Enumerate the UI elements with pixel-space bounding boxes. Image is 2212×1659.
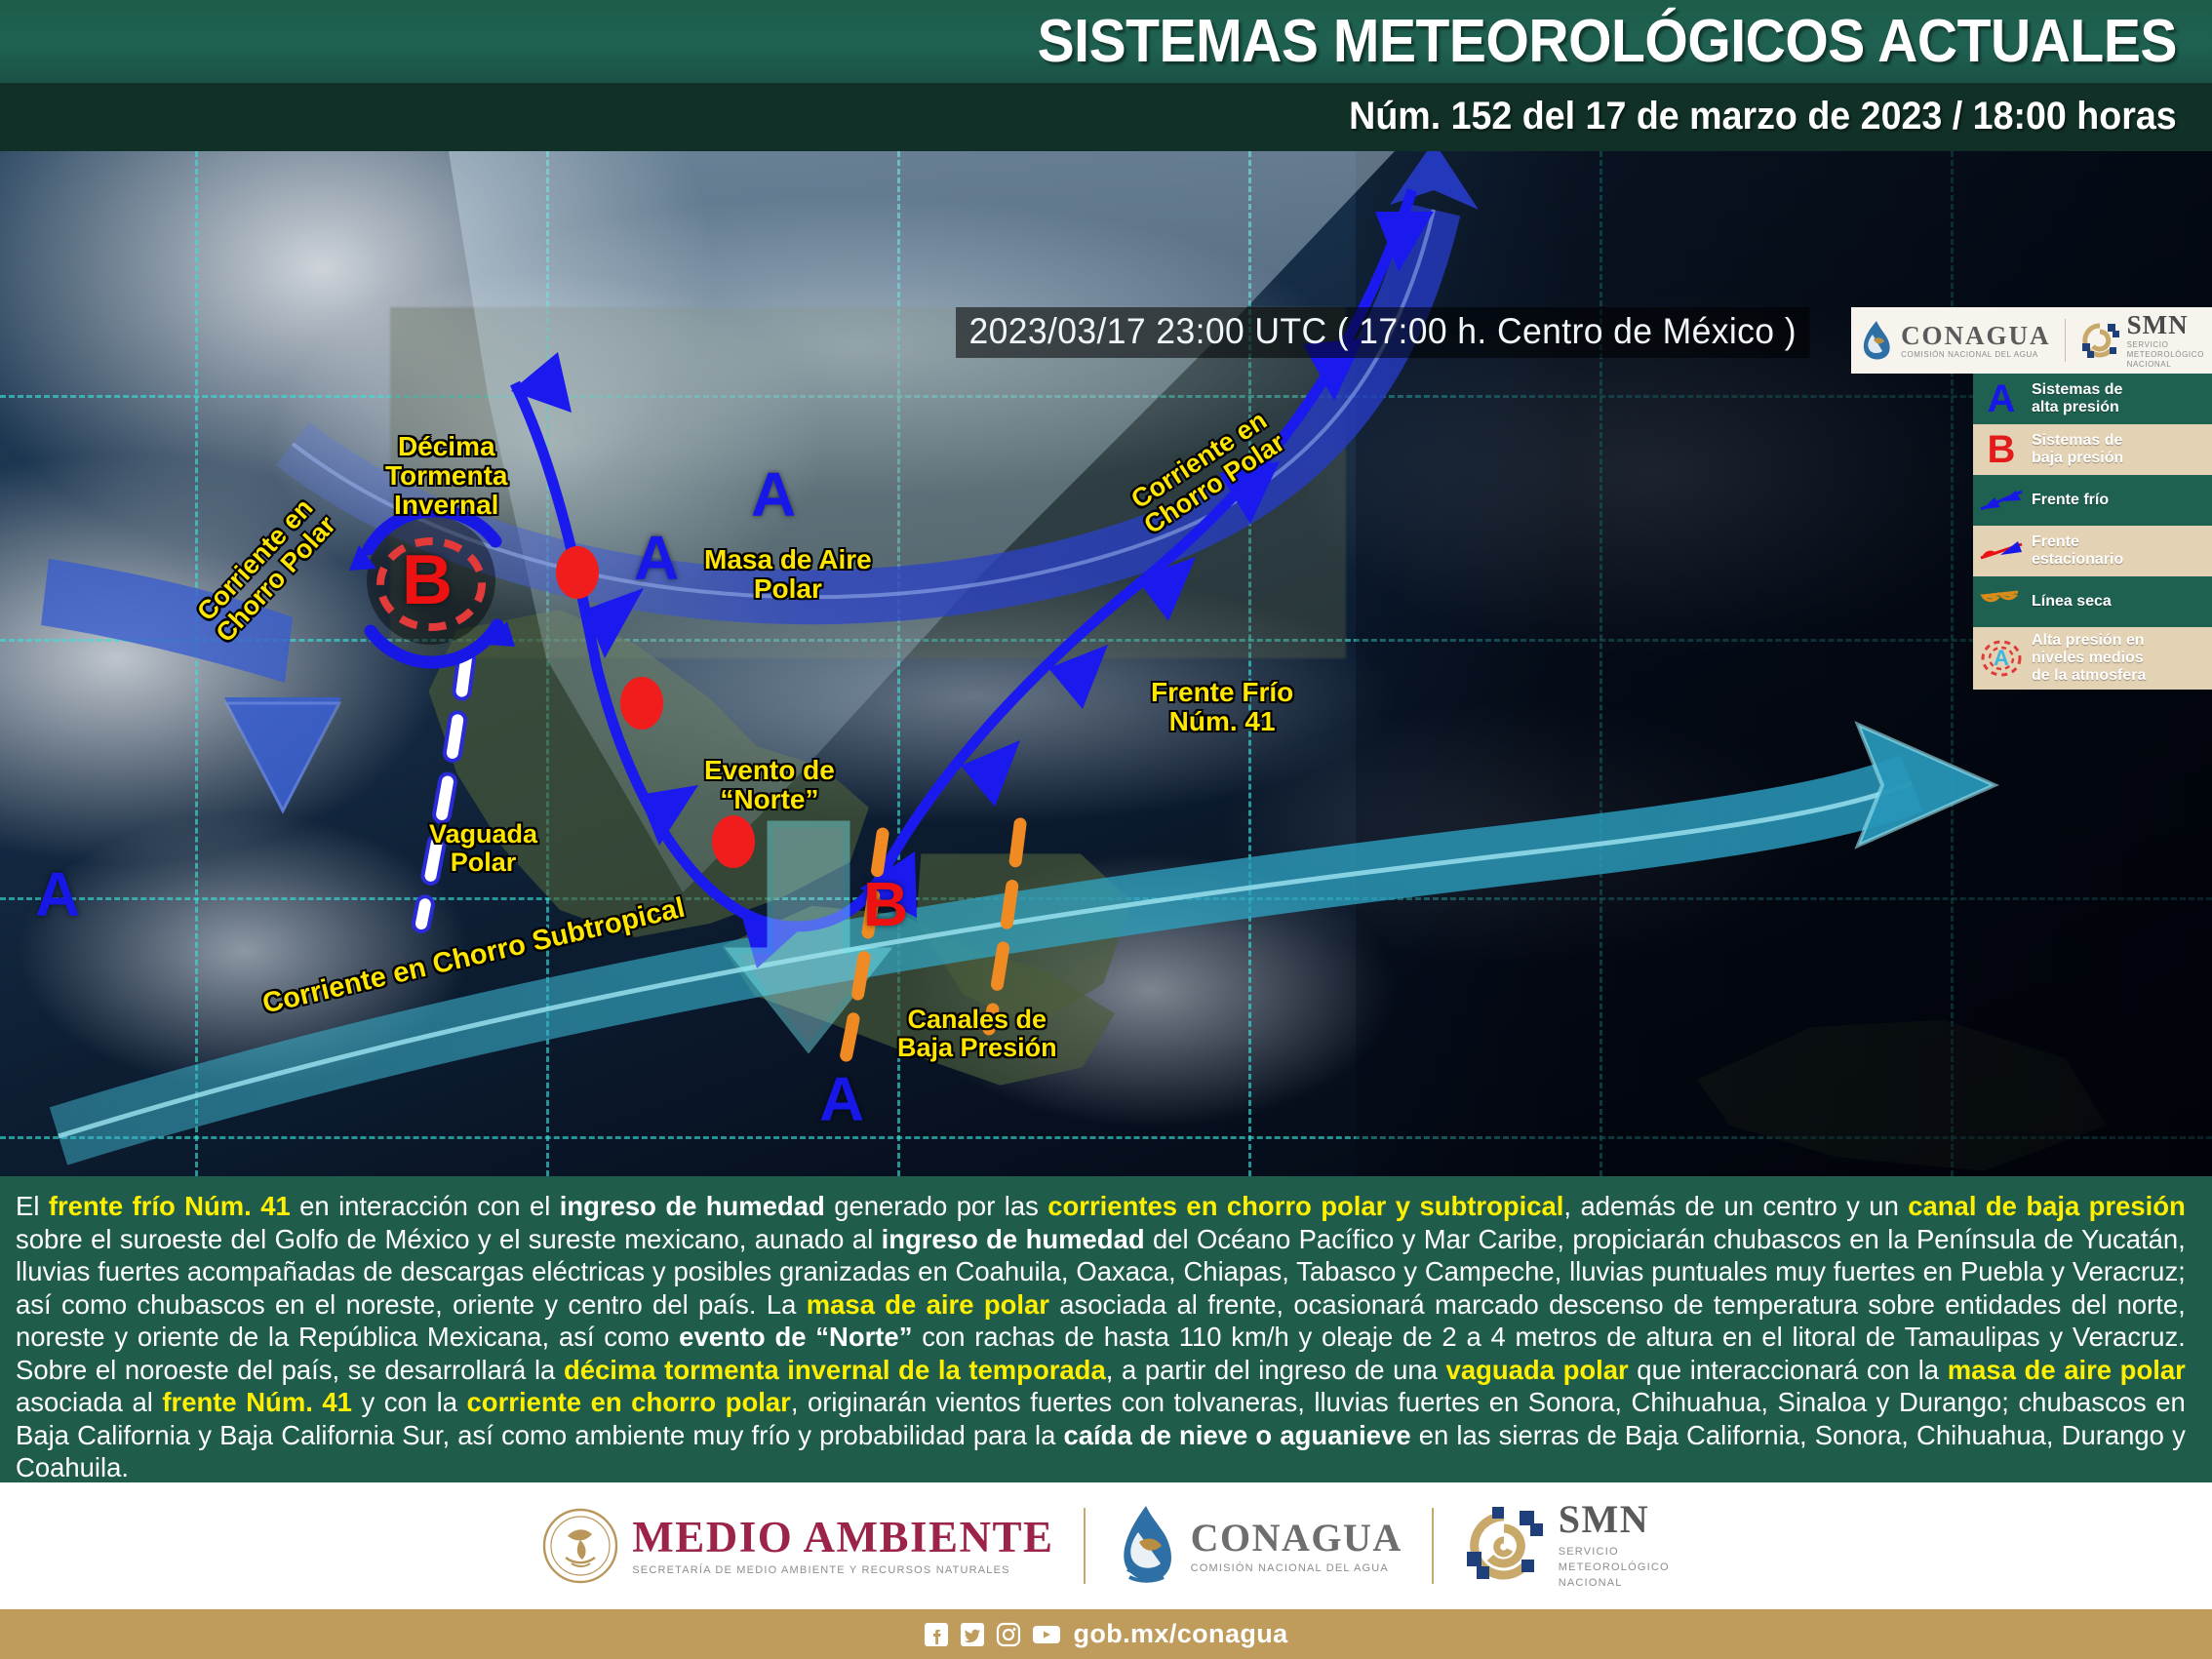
map-logo-bar: CONAGUA COMISIÓN NACIONAL DEL AGUA SMN [1851, 307, 2212, 374]
smn-tagline: SERVICIO METEOROLÓGICO NACIONAL [2127, 340, 2204, 370]
medio-ambiente-tagline: SECRETARÍA DE MEDIO AMBIENTE Y RECURSOS … [632, 1565, 1053, 1576]
footer-logo-strip: MEDIO AMBIENTE SECRETARÍA DE MEDIO AMBIE… [0, 1482, 2212, 1609]
legend-label: Sistemas de baja presión [2032, 432, 2123, 467]
page-title: SISTEMAS METEOROLÓGICOS ACTUALES [1038, 2, 2177, 82]
weather-systems-overlay [0, 151, 2212, 1176]
smn-logo: SMN SERVICIO METEOROLÓGICO NACIONAL [2079, 312, 2204, 370]
legend-label: Línea seca [2032, 593, 2112, 611]
legend-label: Alta presión en niveles medios de la atm… [2032, 632, 2146, 685]
marker-low-pressure-storm: B [402, 545, 453, 615]
footer-divider [1432, 1508, 1434, 1584]
map-timestamp: 2023/03/17 23:00 UTC ( 17:00 h. Centro d… [956, 307, 1809, 358]
instagram-icon[interactable] [996, 1622, 1021, 1647]
marker-low-pressure-gulf: B [863, 873, 908, 935]
logo-divider [2065, 319, 2066, 362]
footer-divider [1084, 1508, 1086, 1584]
legend-item-mid-level-high: A Alta presión en niveles medios de la a… [1973, 627, 2212, 690]
footer-conagua-tagline: COMISIÓN NACIONAL DEL AGUA [1191, 1563, 1402, 1574]
medio-ambiente-logo: MEDIO AMBIENTE SECRETARÍA DE MEDIO AMBIE… [542, 1501, 1053, 1591]
smn-wordmark: SMN SERVICIO METEOROLÓGICO NACIONAL [2127, 312, 2204, 370]
smn-name: SMN [2127, 312, 2204, 338]
label-masa-de-aire-polar: Masa de Aire Polar [704, 545, 872, 604]
escudo-nacional-icon [542, 1501, 618, 1591]
conagua-drop-icon [1859, 319, 1894, 362]
medio-ambiente-name: MEDIO AMBIENTE [632, 1516, 1053, 1560]
smn-spiral-icon [2079, 320, 2120, 361]
legend-label: Frente estacionario [2032, 533, 2123, 569]
polar-trough-line [421, 658, 466, 924]
svg-text:A: A [1994, 646, 2009, 670]
forecast-summary-text: El frente frío Núm. 41 en interacción co… [16, 1190, 2186, 1484]
mid-level-high-icon: A [1979, 638, 2024, 679]
label-frente-frio-num-41: Frente Frío Núm. 41 [1151, 678, 1293, 736]
forecast-summary-panel: El frente frío Núm. 41 en interacción co… [0, 1176, 2212, 1482]
satellite-weather-map[interactable]: 2023/03/17 23:00 UTC ( 17:00 h. Centro d… [0, 151, 2212, 1176]
conagua-logo: CONAGUA COMISIÓN NACIONAL DEL AGUA [1859, 319, 2051, 362]
stationary-front-icon [1979, 531, 2024, 572]
smn-spiral-icon [1463, 1505, 1545, 1587]
legend-label: Sistemas de alta presión [2032, 381, 2122, 416]
legend-item-dry-line: Línea seca [1973, 576, 2212, 627]
marker-high-pressure-north: A [751, 463, 796, 526]
conagua-drop-icon [1115, 1503, 1177, 1589]
conagua-wordmark: CONAGUA COMISIÓN NACIONAL DEL AGUA [1901, 323, 2051, 359]
footer-smn-name: SMN [1559, 1500, 1670, 1539]
marker-high-pressure-northwest: A [634, 527, 679, 589]
dry-line-icon [1979, 581, 2024, 622]
legend-item-low-pressure: B Sistemas de baja presión [1973, 424, 2212, 475]
legend-item-cold-front: Frente frío [1973, 475, 2212, 526]
medio-ambiente-wordmark: MEDIO AMBIENTE SECRETARÍA DE MEDIO AMBIE… [632, 1516, 1053, 1576]
facebook-icon[interactable] [924, 1622, 949, 1647]
page-subtitle: Núm. 152 del 17 de marzo de 2023 / 18:00… [1350, 84, 2177, 148]
label-canales-de-baja-presion: Canales de Baja Presión [897, 1006, 1057, 1062]
footer-url[interactable]: gob.mx/conagua [1073, 1619, 1287, 1649]
youtube-icon[interactable] [1032, 1622, 1061, 1647]
conagua-tagline: COMISIÓN NACIONAL DEL AGUA [1901, 351, 2051, 359]
cold-front-icon [1979, 480, 2024, 521]
high-pressure-A-icon: A [1979, 378, 2024, 419]
footer-conagua-wordmark: CONAGUA COMISIÓN NACIONAL DEL AGUA [1191, 1519, 1402, 1574]
conagua-name: CONAGUA [1901, 323, 2051, 349]
footer-smn-wordmark: SMN SERVICIO METEOROLÓGICO NACIONAL [1559, 1500, 1670, 1592]
legend-item-high-pressure: A Sistemas de alta presión [1973, 374, 2212, 424]
footer-smn-logo: SMN SERVICIO METEOROLÓGICO NACIONAL [1463, 1500, 1670, 1592]
polar-jet-west-arrow [41, 559, 341, 814]
social-icon-group [924, 1622, 1061, 1647]
legend-label: Frente frío [2032, 492, 2109, 509]
marker-high-pressure-left: A [35, 863, 80, 926]
footer-smn-tagline: SERVICIO METEOROLÓGICO NACIONAL [1559, 1545, 1670, 1592]
legend-item-stationary-front: Frente estacionario [1973, 526, 2212, 576]
map-legend: A Sistemas de alta presión B Sistemas de… [1973, 374, 2212, 690]
infographic-page: SISTEMAS METEOROLÓGICOS ACTUALES Núm. 15… [0, 0, 2212, 1659]
twitter-icon[interactable] [960, 1622, 985, 1647]
footer-conagua-logo: CONAGUA COMISIÓN NACIONAL DEL AGUA [1115, 1503, 1402, 1589]
label-vaguada-polar: Vaguada Polar [429, 820, 537, 877]
subtropical-jet-stream [59, 725, 1995, 1136]
marker-high-pressure-south: A [819, 1068, 864, 1130]
low-pressure-B-icon: B [1979, 429, 2024, 470]
label-decima-tormenta-invernal: Décima Tormenta Invernal [385, 432, 508, 521]
footer-social-bar: gob.mx/conagua [0, 1609, 2212, 1659]
footer-conagua-name: CONAGUA [1191, 1519, 1402, 1558]
label-evento-de-norte: Evento de “Norte” [704, 756, 835, 814]
